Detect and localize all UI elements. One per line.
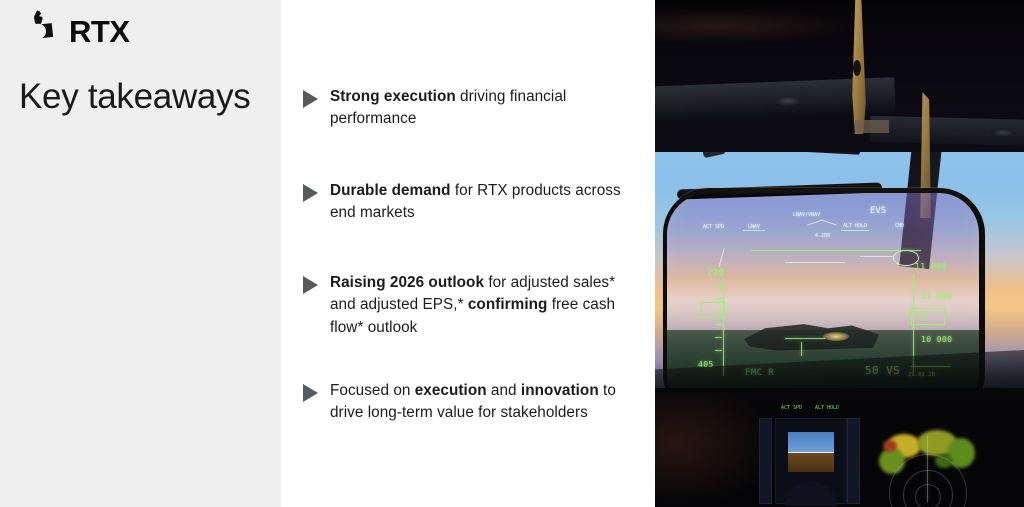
panel-ambient-glow bbox=[655, 392, 775, 507]
pfd-mode-annunciator: ACT SPD bbox=[781, 405, 802, 411]
radar-return-red bbox=[883, 440, 897, 452]
slide-root: RTX Key takeaways Strong execution drivi… bbox=[0, 0, 1024, 507]
attitude-indicator bbox=[788, 432, 834, 472]
pillar-aperture bbox=[853, 60, 861, 76]
cockpit-hud-photo: EVS LNAV/VNAV ACT SPD LNAV ALT HOLD CMD … bbox=[655, 0, 1024, 507]
brand-name: RTX bbox=[69, 16, 130, 47]
weather-radar-display bbox=[873, 418, 981, 507]
triangle-right-icon bbox=[301, 383, 320, 403]
list-item-text: Raising 2026 outlook for adjusted sales*… bbox=[330, 272, 641, 339]
triangle-right-icon bbox=[301, 275, 320, 295]
page-title: Key takeaways bbox=[19, 78, 251, 117]
attitude-sky bbox=[788, 432, 834, 453]
rtx-sunburst-logo-icon bbox=[17, 10, 60, 53]
bullet-list: Strong execution driving financial perfo… bbox=[281, 0, 655, 507]
left-panel: RTX Key takeaways bbox=[0, 0, 281, 507]
brand-lockup: RTX bbox=[17, 10, 130, 53]
triangle-right-icon bbox=[301, 89, 320, 109]
radar-range-ring bbox=[915, 484, 941, 507]
attitude-ground bbox=[788, 453, 834, 472]
ceiling-light-sheen bbox=[655, 8, 865, 44]
ceiling-vent-right bbox=[991, 128, 1015, 137]
list-item: Strong execution driving financial perfo… bbox=[301, 86, 641, 131]
list-item: Focused on execution and innovation to d… bbox=[301, 380, 641, 425]
pfd-altitude-tape bbox=[847, 418, 860, 504]
list-item-text: Durable demand for RTX products across e… bbox=[330, 180, 641, 225]
pfd-speed-tape bbox=[759, 418, 772, 504]
ceiling-label-plate bbox=[855, 120, 889, 133]
attitude-horizon-line bbox=[788, 452, 834, 453]
pfd-alt-annunciator: ALT HOLD bbox=[815, 405, 839, 411]
triangle-right-icon bbox=[301, 183, 320, 203]
list-item-text: Strong execution driving financial perfo… bbox=[330, 86, 641, 131]
radar-course-line bbox=[927, 436, 928, 502]
list-item: Raising 2026 outlook for adjusted sales*… bbox=[301, 272, 641, 339]
list-item: Durable demand for RTX products across e… bbox=[301, 180, 641, 225]
list-item-text: Focused on execution and innovation to d… bbox=[330, 380, 641, 425]
